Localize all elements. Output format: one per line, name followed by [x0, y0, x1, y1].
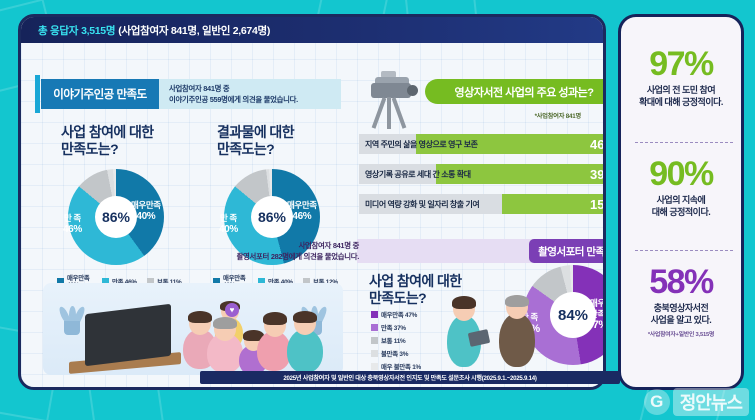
- caption-line-2: 대해 긍정적이다.: [621, 207, 741, 219]
- title-line-1: 결과물에 대한: [217, 124, 294, 141]
- callout-name: 만 족: [219, 213, 238, 224]
- key-stat-subnote: *사업참여자+일반인 3,515명: [621, 329, 741, 338]
- legend-item: 매우 불만족 1%: [371, 362, 443, 371]
- key-stats-panel: 97% 사업의 전 도민 참여 확대에 대해 긍정적이다. 90% 사업의 지속…: [618, 14, 744, 390]
- outcomes-chart-note: *사업참여자 841명: [535, 111, 581, 120]
- story-section-label: 이야기주인공 만족도: [53, 86, 146, 102]
- main-infographic-card: 총 응답자 3,515명 (사업참여자 841명, 일반인 2,674명) 이야…: [18, 14, 606, 390]
- bar-row: 39% 영상기록 공유로 세대 간 소통 확대: [359, 164, 606, 184]
- respondents-breakdown: (사업참여자 841명, 일반인 2,674명): [118, 23, 270, 38]
- family-member-hair: [188, 311, 212, 323]
- story-section-accent-bar: [35, 75, 40, 113]
- title-line-2: 만족도는?: [61, 141, 154, 158]
- caption-line-1: 충북영상자서전: [621, 303, 741, 315]
- legend-item: 보통 11%: [371, 336, 443, 345]
- chart-title-story-participation: 사업 참여에 대한 만족도는?: [61, 124, 154, 158]
- legend-label: 매우만족 47%: [381, 310, 417, 319]
- story-section-note: 사업참여자 841명 중 이야기주인공 559명에게 의견을 물었습니다.: [169, 84, 298, 105]
- family-member-hair: [293, 311, 317, 323]
- watermark-text: 정안뉴스: [673, 388, 749, 416]
- bar-value-label: 39%: [590, 167, 606, 182]
- bar-category-label: 지역 주민의 삶을 영상으로 영구 보존: [359, 134, 478, 154]
- family-member-hair: [213, 317, 237, 329]
- bar-row: 15% 미디어 역량 강화 및 일자리 창출 기여: [359, 194, 606, 214]
- bar-category-label: 영상기록 공유로 세대 간 소통 확대: [359, 164, 471, 184]
- donut-callout-very-satisfied: 매우만족 46%: [287, 200, 317, 223]
- family-member: [257, 331, 291, 371]
- key-stat-value: 90%: [621, 157, 741, 191]
- key-stat: 58% 충북영상자서전 사업을 알고 있다. *사업참여자+일반인 3,515명: [621, 265, 741, 338]
- stat-divider: [635, 142, 733, 143]
- key-stat-value: 58%: [621, 265, 741, 299]
- television-icon: [85, 304, 171, 367]
- outcomes-chart-title-pill: 영상자서전 사업의 주요 성과는?: [425, 79, 606, 104]
- key-stat: 97% 사업의 전 도민 참여 확대에 대해 긍정적이다.: [621, 47, 741, 111]
- key-stat: 90% 사업의 지속에 대해 긍정적이다.: [621, 157, 741, 221]
- legend-swatch: [371, 311, 378, 318]
- family-member-hair: [263, 312, 287, 325]
- key-stat-caption: 충북영상자서전 사업을 알고 있다.: [621, 303, 741, 326]
- callout-value: 40%: [131, 211, 161, 224]
- legend-item: 만족 37%: [371, 323, 443, 332]
- bar-value-label: 46%: [590, 137, 606, 152]
- supporter-section-pill: 촬영서포터 만족도: [529, 239, 606, 263]
- bar-category-label: 미디어 역량 강화 및 일자리 창출 기여: [359, 194, 479, 214]
- callout-value: 46%: [287, 211, 317, 224]
- supporter-note-line-1: 사업참여자 841명 중: [237, 241, 359, 252]
- family-member: [287, 329, 323, 373]
- donut-callout-satisfied: 만 족 46%: [63, 213, 82, 236]
- total-respondents-bar: 총 응답자 3,515명 (사업참여자 841명, 일반인 2,674명): [21, 17, 603, 43]
- caption-line-1: 사업의 지속에: [621, 195, 741, 207]
- stat-divider: [635, 250, 733, 251]
- key-stat-value: 97%: [621, 47, 741, 81]
- outcomes-chart-title: 영상자서전 사업의 주요 성과는?: [455, 84, 594, 100]
- legend-label: 불만족 3%: [381, 349, 408, 358]
- legend-label: 만족 37%: [381, 323, 406, 332]
- story-section-pill: 이야기주인공 만족도: [41, 79, 159, 109]
- supporter-people-illustration-icon: [441, 281, 551, 367]
- total-respondents-label: 총 응답자: [38, 23, 78, 38]
- callout-name: 매우만족: [587, 298, 606, 319]
- legend-swatch: [371, 350, 378, 357]
- heart-icon: [225, 303, 239, 317]
- legend-swatch: [371, 324, 378, 331]
- callout-name: 만 족: [63, 213, 82, 224]
- callout-name: 매우만족: [287, 200, 317, 211]
- chart-title-story-result: 결과물에 대한 만족도는?: [217, 124, 294, 158]
- legend-swatch: [371, 337, 378, 344]
- supporter-section-label: 촬영서포터 만족도: [538, 244, 606, 259]
- legend-swatch: [371, 363, 378, 370]
- title-line-2: 만족도는?: [217, 141, 294, 158]
- survey-caption-bar: 2025년 사업참여자 및 일반인 대상 충북영상자서전 인지도 및 만족도 설…: [200, 371, 620, 384]
- legend-supporter-participation: 매우만족 47%만족 37%보통 11%불만족 3%매우 불만족 1%: [371, 310, 443, 375]
- donut-callout-very-satisfied: 매우만족 47%: [587, 298, 606, 333]
- legend-item: 매우만족 47%: [371, 310, 443, 319]
- supporter-note-line-2: 촬영서포터 282명에게 의견을 물었습니다.: [237, 252, 359, 263]
- family-watching-tv-illustration: [43, 283, 343, 375]
- legend-label: 매우 불만족 1%: [381, 362, 421, 371]
- legend-item: 불만족 3%: [371, 349, 443, 358]
- title-line-1: 사업 참여에 대한: [61, 124, 154, 141]
- survey-caption-text: 2025년 사업참여자 및 일반인 대상 충북영상자서전 인지도 및 만족도 설…: [283, 373, 536, 382]
- callout-value: 40%: [219, 224, 238, 237]
- donut-callout-very-satisfied: 매우만족 40%: [131, 200, 161, 223]
- watermark: G 정안뉴스: [644, 388, 749, 416]
- total-respondents-value: 3,515명: [81, 23, 115, 38]
- supporter-section-band: [357, 239, 537, 263]
- watermark-logo-icon: G: [644, 389, 670, 415]
- story-note-line-2: 이야기주인공 559명에게 의견을 물었습니다.: [169, 95, 298, 106]
- story-note-line-1: 사업참여자 841명 중: [169, 84, 298, 95]
- caption-line-2: 사업을 알고 있다.: [621, 315, 741, 327]
- bar-row: 46% 지역 주민의 삶을 영상으로 영구 보존: [359, 134, 606, 154]
- bar-fill: 15%: [502, 194, 606, 214]
- legend-label: 보통 11%: [381, 336, 405, 345]
- key-stat-caption: 사업의 지속에 대해 긍정적이다.: [621, 195, 741, 218]
- potted-plant-icon: [57, 301, 87, 335]
- supporter-section-note: 사업참여자 841명 중 촬영서포터 282명에게 의견을 물었습니다.: [237, 241, 359, 262]
- callout-value: 46%: [63, 224, 82, 237]
- clipboard-icon: [468, 329, 490, 347]
- video-camera-icon: [367, 75, 423, 133]
- callout-name: 매우만족: [131, 200, 161, 211]
- callout-value: 47%: [587, 319, 606, 333]
- caption-line-2: 확대에 대해 긍정적이다.: [621, 97, 741, 109]
- donut-callout-satisfied: 만 족 40%: [219, 213, 238, 236]
- caption-line-1: 사업의 전 도민 참여: [621, 85, 741, 97]
- bar-value-label: 15%: [590, 197, 606, 212]
- key-stat-caption: 사업의 전 도민 참여 확대에 대해 긍정적이다.: [621, 85, 741, 108]
